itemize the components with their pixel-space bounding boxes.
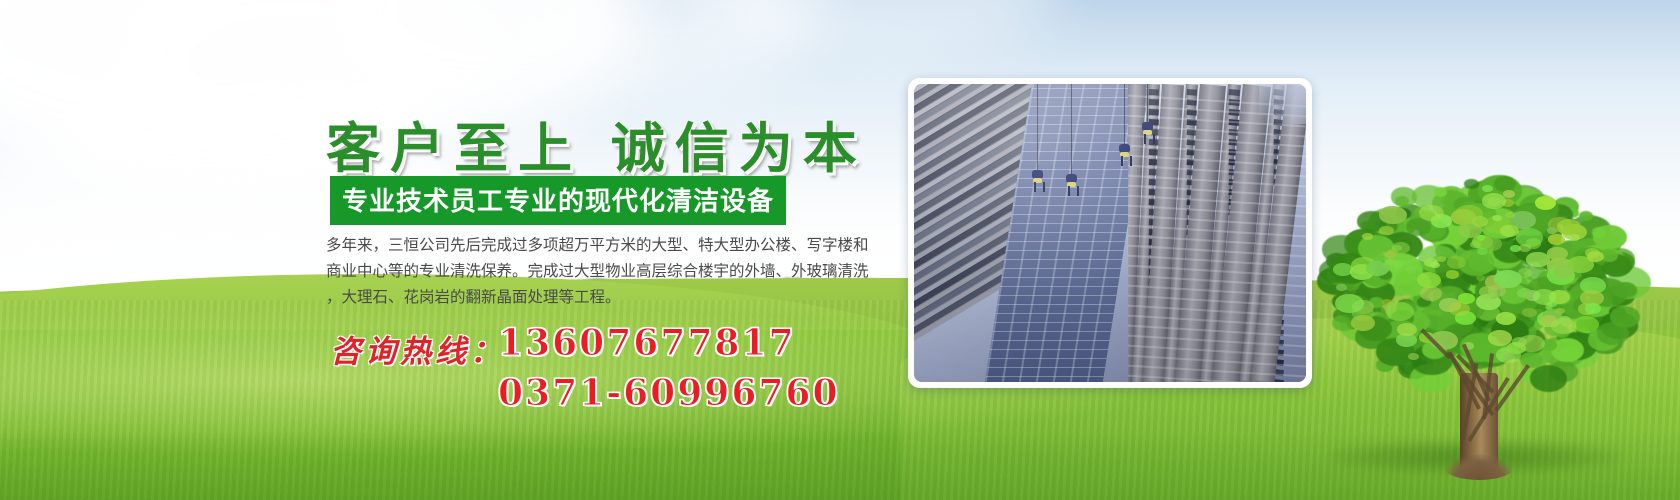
hotline-block: 咨询热线： 13607677817 0371-60996760	[330, 322, 760, 412]
page-title: 客户至上 诚信为本	[326, 104, 867, 183]
tree-icon	[1300, 168, 1660, 478]
subtitle-bar-label: 专业技术员工专业的现代化清洁设备	[342, 181, 774, 218]
hotline-phone-primary[interactable]: 13607677817	[498, 322, 796, 364]
hotline-phone-secondary[interactable]: 0371-60996760	[498, 372, 840, 414]
description-paragraph: 多年来，三恒公司先后完成过多项超万平方米的大型、特大型办公楼、写字楼和 商业中心…	[326, 232, 894, 310]
description-line-2: 商业中心等的专业清洗保养。完成过大型物业高层综合楼宇的外墙、外玻璃清洗	[326, 258, 894, 284]
description-line-3: ，大理石、花岗岩的翻新晶面处理等工程。	[326, 284, 894, 310]
hotline-label: 咨询热线：	[330, 326, 505, 371]
building-photo	[914, 84, 1306, 382]
building-photo-card[interactable]	[908, 78, 1312, 388]
subtitle-bar: 专业技术员工专业的现代化清洁设备	[330, 176, 786, 225]
promo-banner: 客户至上 诚信为本 专业技术员工专业的现代化清洁设备 多年来，三恒公司先后完成过…	[0, 0, 1680, 500]
description-line-1: 多年来，三恒公司先后完成过多项超万平方米的大型、特大型办公楼、写字楼和	[326, 232, 894, 258]
